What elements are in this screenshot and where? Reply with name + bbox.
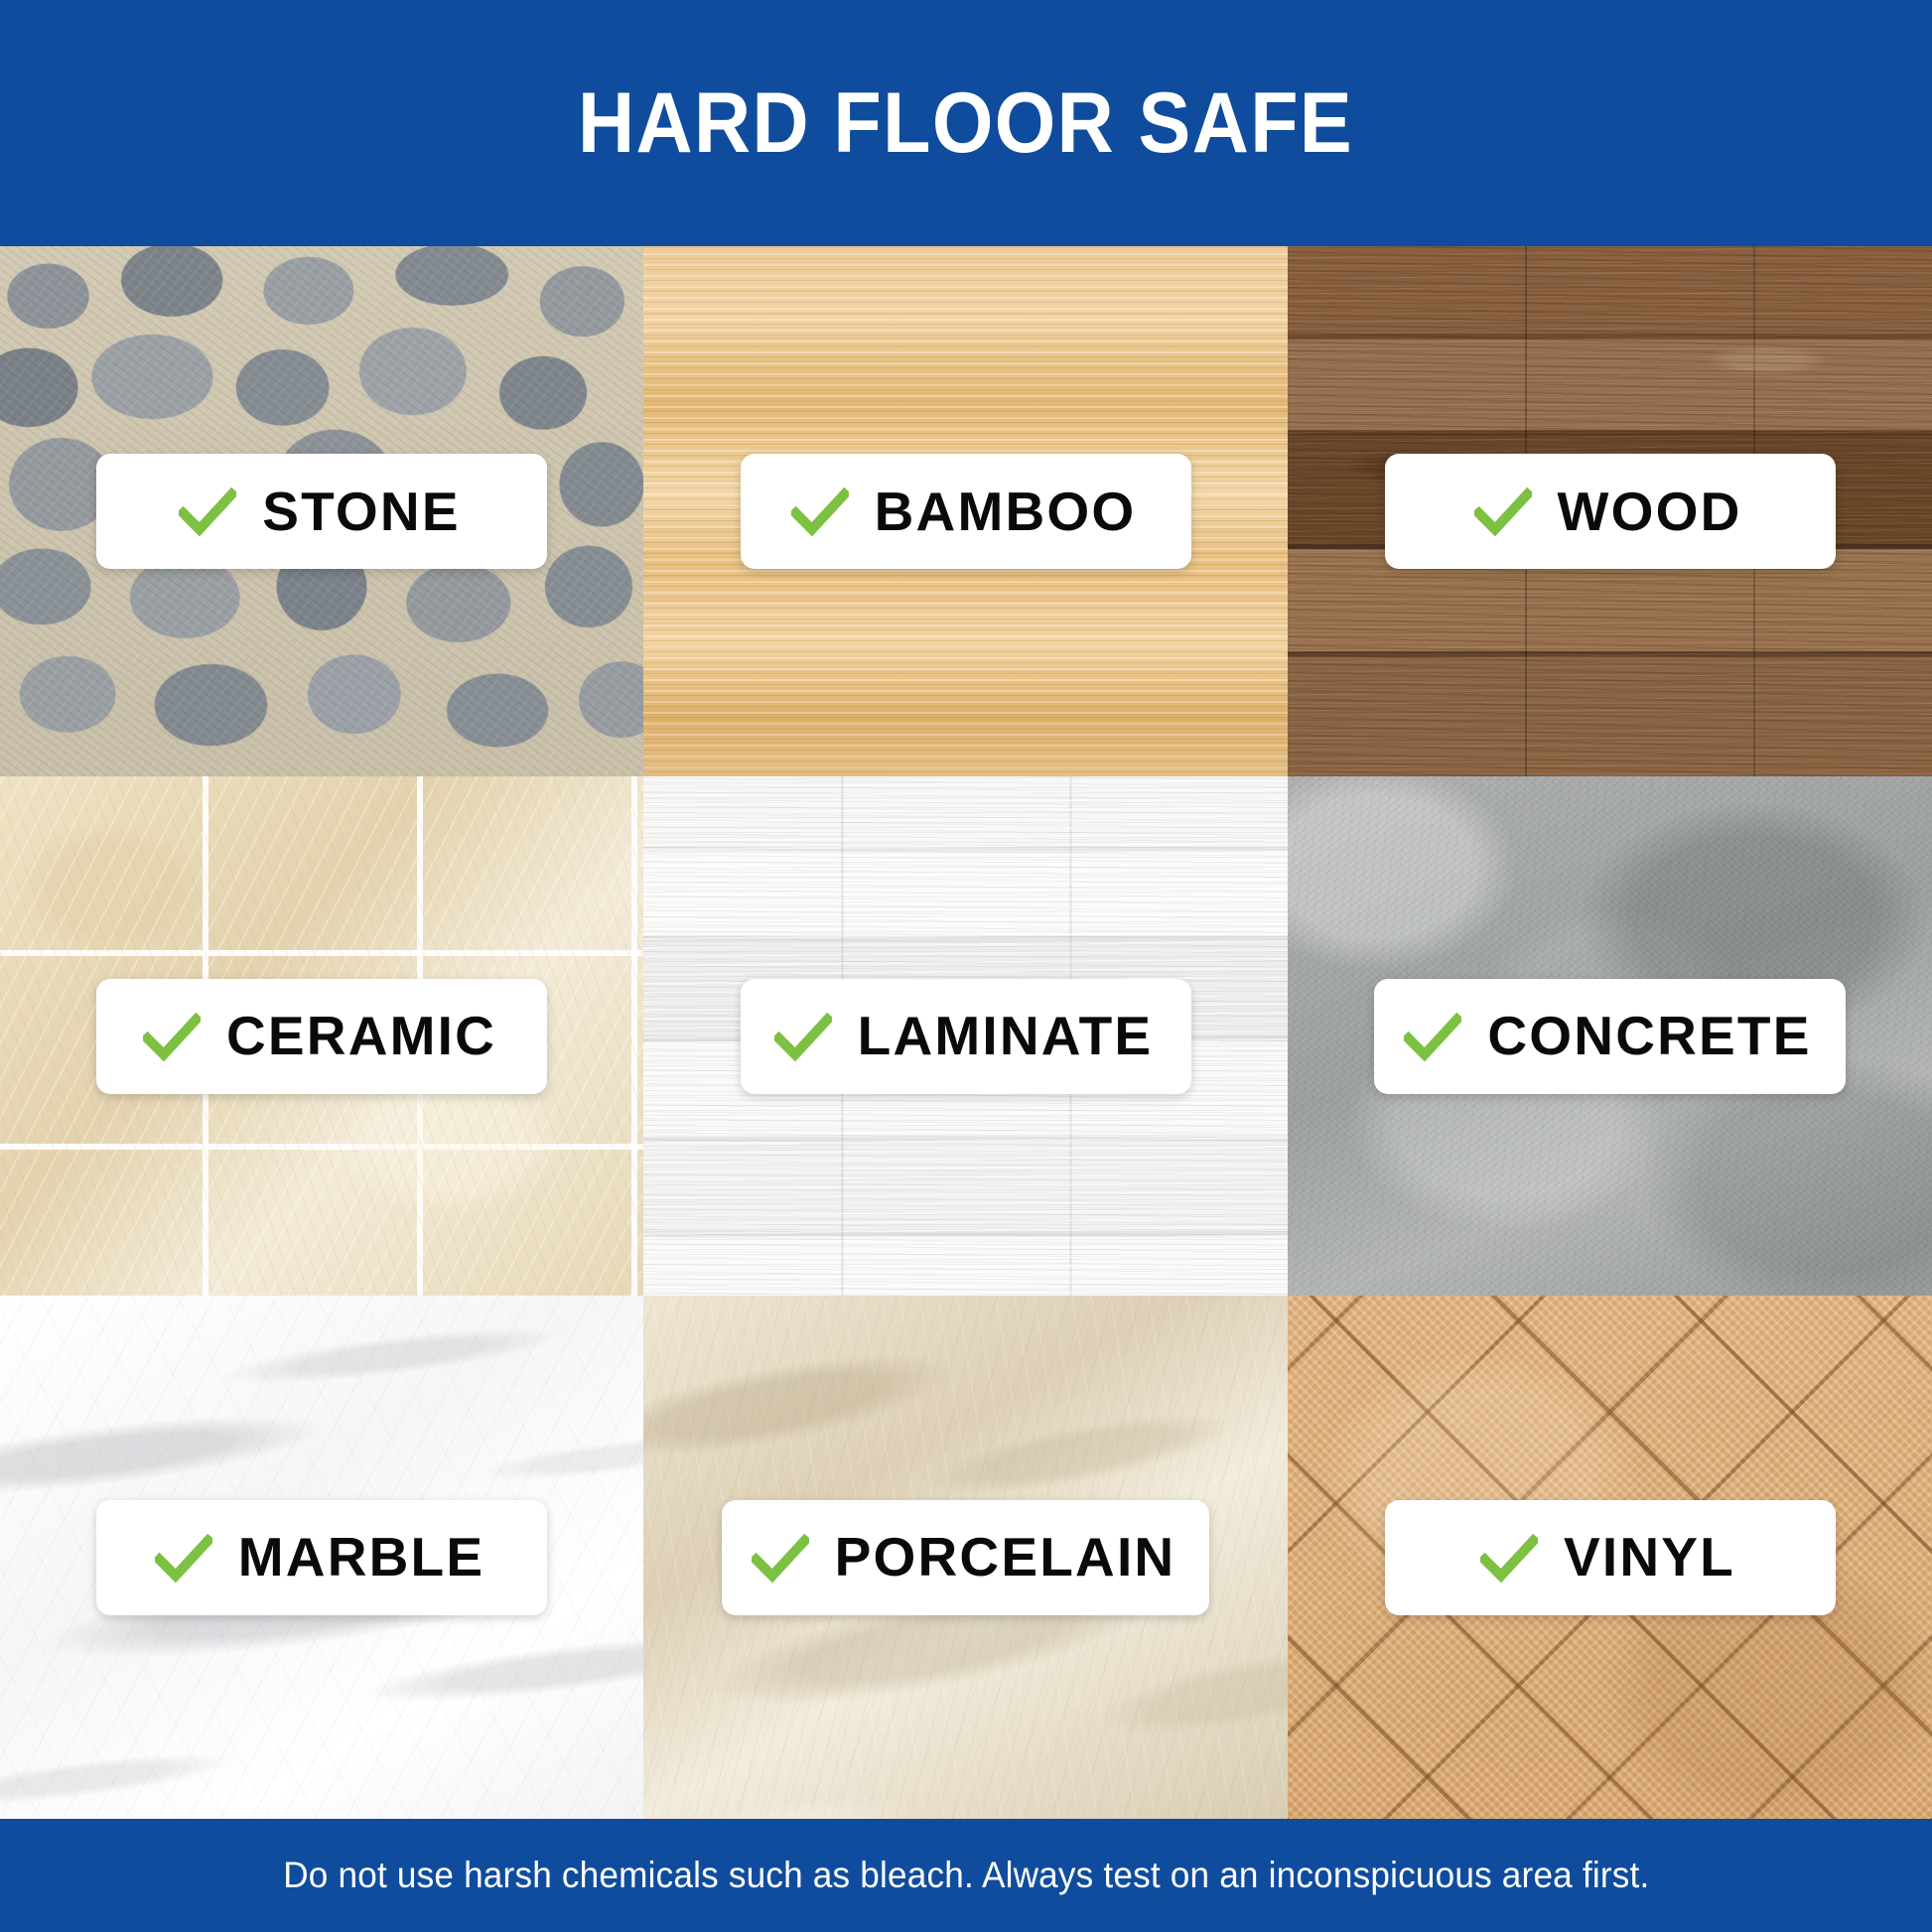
surface-label: VINYL — [1564, 1530, 1735, 1585]
surface-cell-ceramic: CERAMIC — [0, 776, 643, 1296]
surface-cell-bamboo: BAMBOO — [643, 246, 1288, 776]
page-title: HARD FLOOR SAFE — [578, 80, 1353, 166]
surface-cell-marble: MARBLE — [0, 1296, 643, 1819]
check-icon — [752, 1529, 809, 1587]
check-icon — [1480, 1529, 1538, 1587]
surface-badge-bamboo[interactable]: BAMBOO — [741, 454, 1191, 569]
surface-cell-stone: STONE — [0, 246, 643, 776]
check-icon — [774, 1008, 832, 1065]
surface-grid: STONE BAMBOO WOOD — [0, 246, 1932, 1819]
surface-badge-laminate[interactable]: LAMINATE — [741, 979, 1191, 1094]
poster-footer: Do not use harsh chemicals such as bleac… — [0, 1819, 1932, 1932]
surface-badge-stone[interactable]: STONE — [96, 454, 547, 569]
surface-label: CERAMIC — [226, 1009, 496, 1063]
check-icon — [155, 1529, 212, 1587]
check-icon — [143, 1008, 201, 1065]
surface-label: BAMBOO — [875, 484, 1137, 539]
surface-cell-laminate: LAMINATE — [643, 776, 1288, 1296]
surface-cell-vinyl: VINYL — [1288, 1296, 1932, 1819]
surface-label: CONCRETE — [1487, 1009, 1811, 1063]
surface-badge-ceramic[interactable]: CERAMIC — [96, 979, 547, 1094]
surface-label: PORCELAIN — [835, 1530, 1176, 1585]
surface-cell-porcelain: PORCELAIN — [643, 1296, 1288, 1819]
hard-floor-safe-poster: HARD FLOOR SAFE STONE BAMBOO — [0, 0, 1932, 1932]
surface-badge-wood[interactable]: WOOD — [1385, 454, 1836, 569]
check-icon — [1404, 1008, 1461, 1065]
surface-badge-vinyl[interactable]: VINYL — [1385, 1500, 1836, 1615]
surface-cell-concrete: CONCRETE — [1288, 776, 1932, 1296]
surface-label: MARBLE — [238, 1530, 484, 1585]
surface-badge-marble[interactable]: MARBLE — [96, 1500, 547, 1615]
surface-badge-concrete[interactable]: CONCRETE — [1374, 979, 1845, 1094]
surface-cell-wood: WOOD — [1288, 246, 1932, 776]
surface-badge-porcelain[interactable]: PORCELAIN — [722, 1500, 1210, 1615]
surface-label: LAMINATE — [858, 1009, 1154, 1063]
poster-header: HARD FLOOR SAFE — [0, 0, 1932, 246]
surface-label: STONE — [262, 484, 460, 539]
check-icon — [1474, 483, 1532, 540]
disclaimer-text: Do not use harsh chemicals such as bleac… — [283, 1855, 1649, 1896]
check-icon — [179, 483, 236, 540]
check-icon — [791, 483, 849, 540]
surface-label: WOOD — [1558, 484, 1742, 539]
